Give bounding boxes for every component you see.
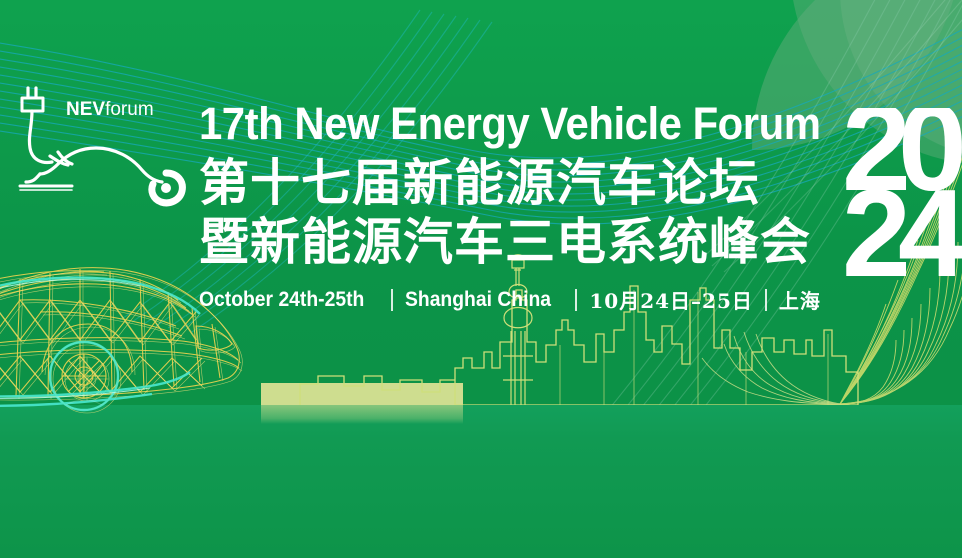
meta-location-english: Shanghai China — [405, 288, 551, 312]
headline-block: 17th New Energy Vehicle Forum 第十七届新能源汽车论… — [199, 100, 849, 314]
meta-separator-1 — [391, 289, 393, 311]
meta-location-chinese: 上海 — [779, 285, 821, 314]
logo-wordmark-bold: NEV — [66, 99, 105, 120]
year-block: 2 0 2 4 — [846, 108, 962, 298]
meta-date-english: October 24th-25th — [199, 288, 364, 312]
headline-chinese-line-2: 暨新能源汽车三电系统峰会 — [199, 214, 849, 271]
meta-separator-3 — [765, 289, 767, 311]
event-meta-line: October 24th-25th Shanghai China 10月24日–… — [199, 285, 849, 314]
year-digit-3: 4 — [898, 172, 961, 296]
logo-wordmark-light: forum — [105, 99, 154, 120]
nevforum-logo — [6, 78, 186, 210]
event-poster: NEVforum 17th New Energy Vehicle Forum 第… — [0, 0, 962, 558]
headline-chinese-line-1: 第十七届新能源汽车论坛 — [199, 155, 849, 212]
meta-date-chinese: 10月24日–25日 — [589, 285, 753, 314]
headline-english: 17th New Energy Vehicle Forum — [199, 100, 804, 148]
year-digit-2: 2 — [846, 172, 905, 296]
meta-separator-2 — [575, 289, 577, 311]
logo-wordmark: NEVforum — [66, 99, 154, 121]
